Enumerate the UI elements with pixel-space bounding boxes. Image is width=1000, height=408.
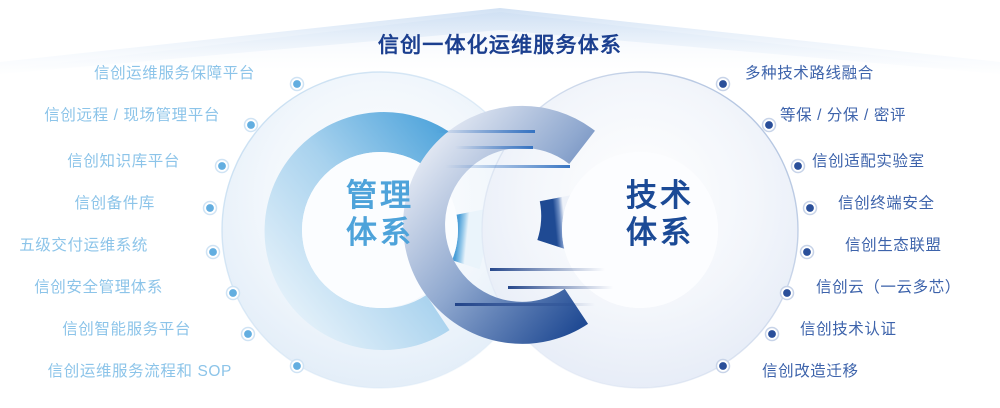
left-label-5[interactable]: 信创安全管理体系 — [0, 275, 163, 297]
node-dot — [227, 287, 240, 300]
node-dot — [801, 246, 814, 259]
left-label-3[interactable]: 信创备件库 — [0, 191, 155, 213]
node-dot — [216, 160, 229, 173]
node-dot — [291, 360, 304, 373]
right-label-4[interactable]: 信创生态联盟 — [845, 233, 1000, 255]
node-dot — [204, 202, 217, 215]
right-label-6[interactable]: 信创技术认证 — [800, 317, 1000, 339]
right-label-7[interactable]: 信创改造迁移 — [762, 359, 1000, 381]
node-dot — [781, 287, 794, 300]
left-label-7[interactable]: 信创运维服务流程和 SOP — [0, 359, 232, 381]
left-ring-caption-line2: 体系 — [300, 215, 460, 252]
node-dot — [766, 328, 779, 341]
node-dot — [792, 160, 805, 173]
node-dot — [242, 328, 255, 341]
left-label-1[interactable]: 信创远程 / 现场管理平台 — [0, 103, 220, 125]
right-label-5[interactable]: 信创云（一云多芯） — [816, 275, 1000, 297]
node-dot — [717, 360, 730, 373]
node-dot — [804, 202, 817, 215]
infographic-canvas: 信创一体化运维服务体系 管理 体系 技术 体系 信创运维服务保障平台信创远程 /… — [0, 0, 1000, 408]
right-label-1[interactable]: 等保 / 分保 / 密评 — [780, 103, 1000, 125]
left-ring-caption-line1: 管理 — [300, 178, 460, 215]
left-label-4[interactable]: 五级交付运维系统 — [0, 233, 148, 255]
page-title: 信创一体化运维服务体系 — [0, 29, 1000, 59]
node-dot — [207, 246, 220, 259]
right-ring-caption-line2: 体系 — [580, 215, 740, 252]
node-dot — [717, 78, 730, 91]
right-ring-caption: 技术 体系 — [580, 178, 740, 251]
right-ring-caption-line1: 技术 — [580, 178, 740, 215]
right-label-2[interactable]: 信创适配实验室 — [812, 149, 1000, 171]
left-arc-lower-right — [460, 214, 465, 263]
node-dot — [291, 78, 304, 91]
left-label-0[interactable]: 信创运维服务保障平台 — [0, 61, 255, 83]
right-label-3[interactable]: 信创终端安全 — [838, 191, 1000, 213]
node-dot — [763, 119, 776, 132]
left-ring-caption: 管理 体系 — [300, 178, 460, 251]
right-arc-lower-right — [557, 197, 562, 246]
left-label-2[interactable]: 信创知识库平台 — [0, 149, 180, 171]
right-label-0[interactable]: 多种技术路线融合 — [745, 61, 1000, 83]
left-label-6[interactable]: 信创智能服务平台 — [0, 317, 191, 339]
node-dot — [245, 119, 258, 132]
